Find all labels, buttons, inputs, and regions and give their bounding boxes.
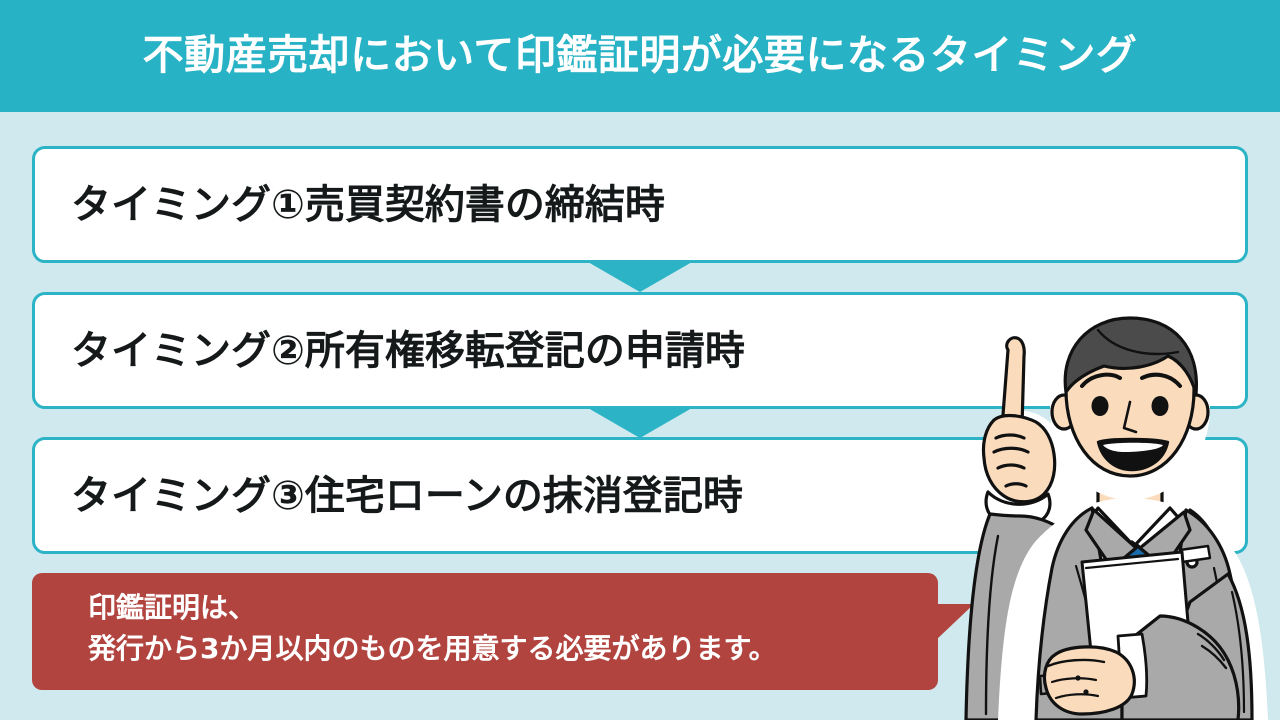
step-card-3-label: タイミング③住宅ローンの抹消登記時 [35, 474, 743, 518]
callout-line-2: 発行から3か月以内のものを用意する必要があります。 [88, 629, 777, 670]
page-title: 不動産売却において印鑑証明が必要になるタイミング [143, 33, 1138, 78]
callout-text: 印鑑証明は、 発行から3か月以内のものを用意する必要があります。 [88, 588, 777, 669]
step-card-1-label: タイミング①売買契約書の締結時 [35, 183, 665, 227]
callout-line-1: 印鑑証明は、 [88, 588, 777, 629]
infographic-root: 不動産売却において印鑑証明が必要になるタイミング タイミング①売買契約書の締結時… [0, 0, 1280, 720]
step-card-1: タイミング①売買契約書の締結時 [32, 146, 1248, 263]
header-bar: 不動産売却において印鑑証明が必要になるタイミング [0, 0, 1280, 112]
step-card-2-label: タイミング②所有権移転登記の申請時 [35, 329, 745, 373]
triangle-shape [588, 408, 692, 438]
businessman-pointing-up-illustration [946, 316, 1280, 720]
arrow-down-icon-1 [588, 262, 692, 292]
arrow-down-icon-2 [588, 408, 692, 438]
triangle-shape [588, 262, 692, 292]
